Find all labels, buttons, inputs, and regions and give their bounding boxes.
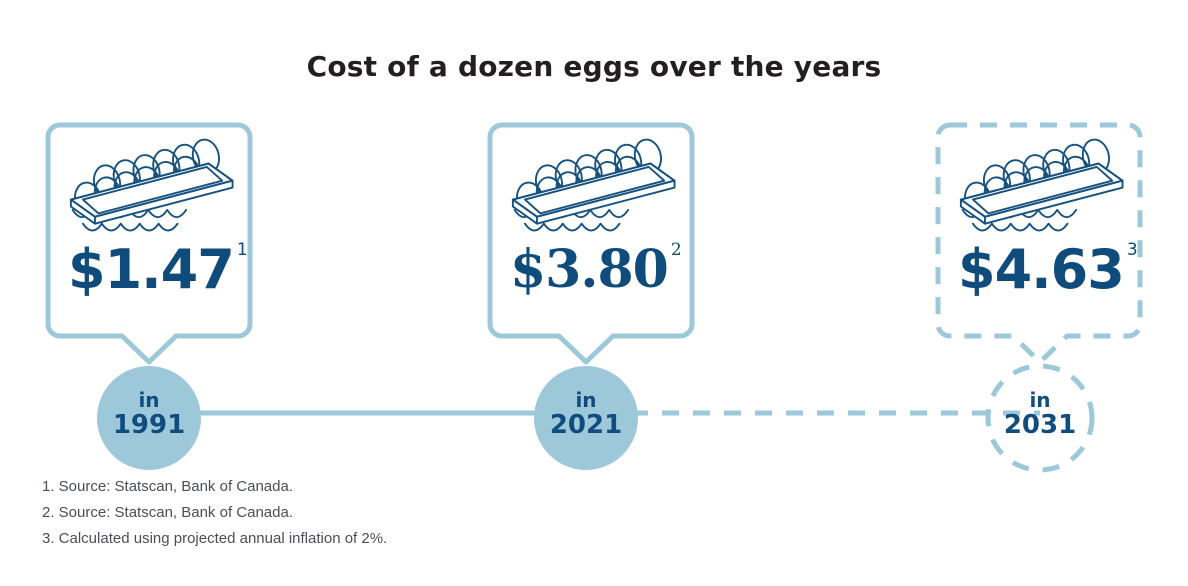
footnote-marker-1991: 1 [237,240,248,260]
year-number-1991: 1991 [94,411,204,440]
footnote-2: 2. Source: Statscan, Bank of Canada. [42,500,387,526]
price-amount-2031: $4.63 [958,238,1124,301]
footnote-marker-2031: 3 [1127,240,1138,260]
year-number-2021: 2021 [531,411,641,440]
year-prefix-1991: in [94,389,204,411]
year-prefix-2031: in [985,389,1095,411]
price-value-2021: $3.802 [510,244,682,296]
year-label-2031: in 2031 [985,389,1095,441]
year-label-1991: in 1991 [94,389,204,441]
price-value-2031: $4.633 [958,243,1138,297]
price-amount-2021: $3.80 [510,239,668,300]
price-amount-1991: $1.47 [68,238,234,301]
footnotes: 1. Source: Statscan, Bank of Canada. 2. … [42,474,387,552]
infographic-canvas: Cost of a dozen eggs over the years [0,0,1188,586]
footnote-1: 1. Source: Statscan, Bank of Canada. [42,474,387,500]
footnote-3: 3. Calculated using projected annual inf… [42,526,387,552]
footnote-marker-2021: 2 [671,240,682,260]
price-value-1991: $1.471 [68,243,248,297]
year-number-2031: 2031 [985,411,1095,440]
year-label-2021: in 2021 [531,389,641,441]
year-prefix-2021: in [531,389,641,411]
